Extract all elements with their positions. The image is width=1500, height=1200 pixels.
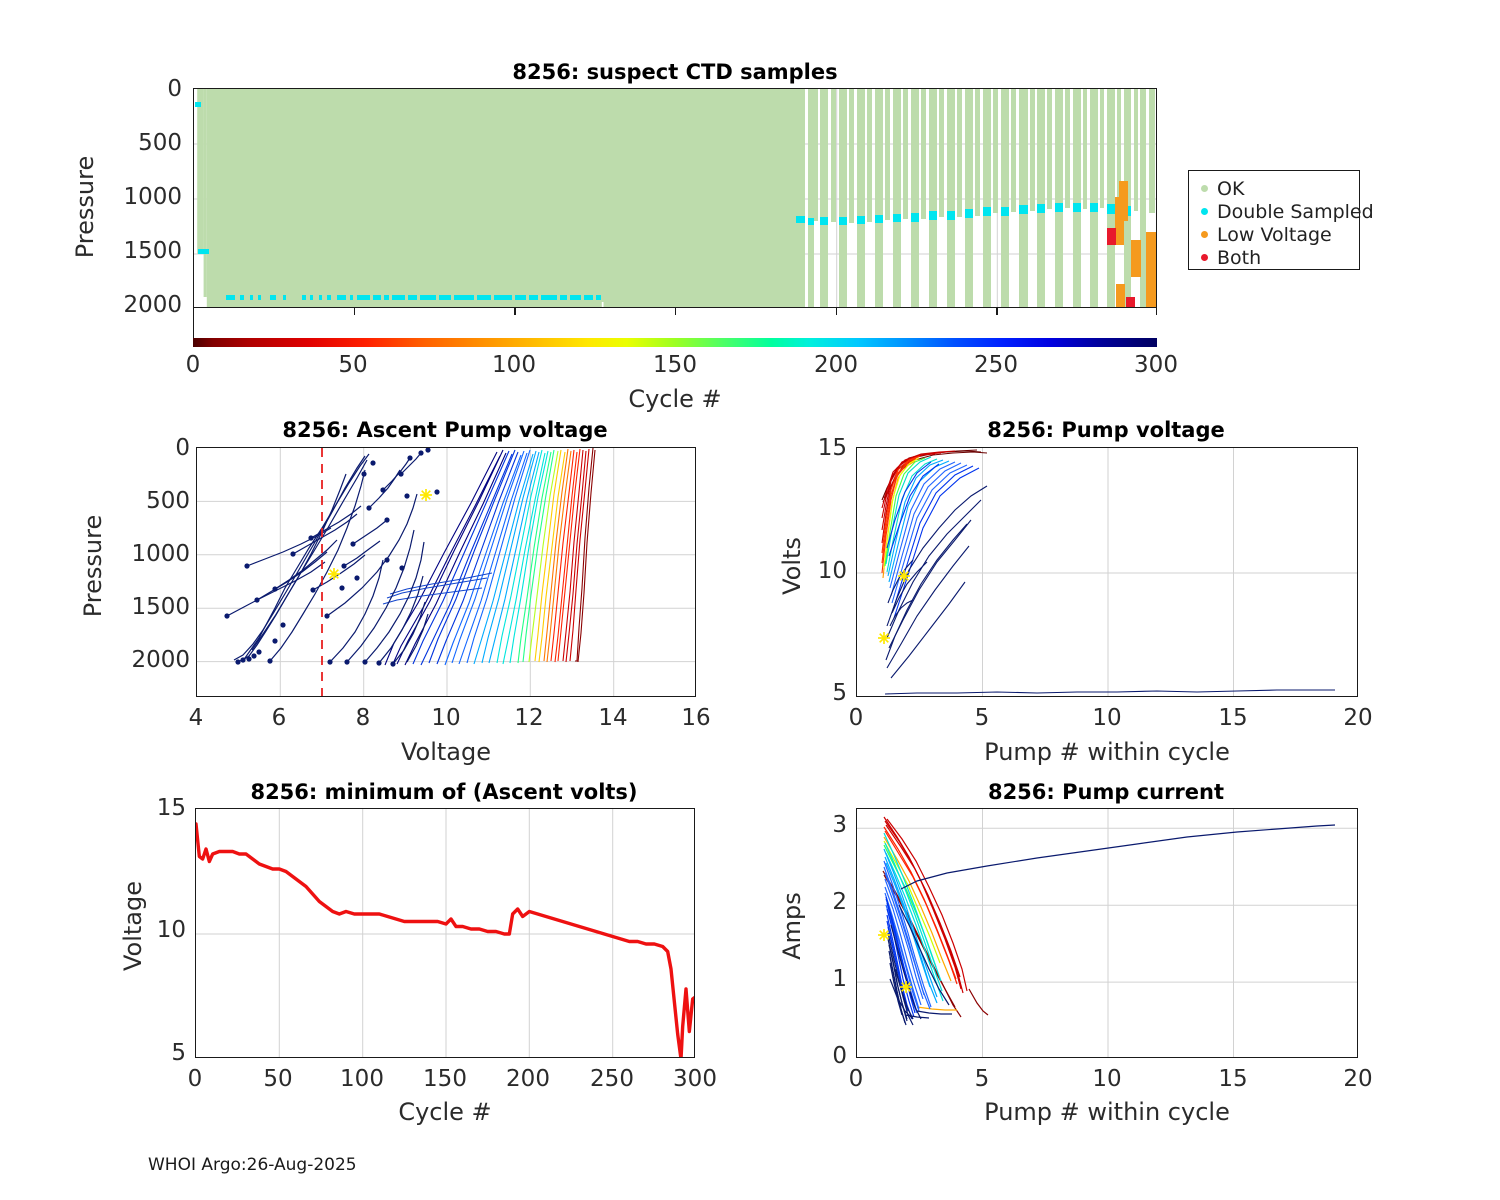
xaxis-label-pump-number: Pump # within cycle bbox=[957, 1098, 1257, 1126]
xtick-mark bbox=[675, 308, 676, 315]
footer-credit: WHOI Argo:26-Aug-2025 bbox=[148, 1155, 357, 1175]
xtick-mark bbox=[1156, 308, 1157, 315]
xtick-label-0: 0 bbox=[826, 1066, 886, 1092]
ytick-1000: 1000 bbox=[108, 541, 190, 567]
legend-item-double-sampled[interactable]: Double Sampled bbox=[1197, 200, 1349, 223]
plot-area-ascent-pump-voltage bbox=[196, 447, 696, 697]
xtick-label-100: 100 bbox=[484, 352, 544, 378]
cycle-colorbar bbox=[193, 338, 1157, 347]
minimum-ascent-volts-svg bbox=[196, 809, 695, 1058]
ytick-2000: 2000 bbox=[108, 647, 190, 673]
ytick-5: 5 bbox=[785, 680, 847, 706]
xtick-label-250: 250 bbox=[966, 352, 1026, 378]
xtick-mark bbox=[514, 308, 515, 315]
pump-voltage-svg bbox=[857, 448, 1358, 697]
legend-label-both: Both bbox=[1217, 247, 1261, 269]
ytick-3: 3 bbox=[795, 812, 847, 838]
xaxis-label-pump-number: Pump # within cycle bbox=[957, 738, 1257, 766]
plot-area-minimum-ascent-volts bbox=[195, 808, 695, 1058]
xtick-label-250: 250 bbox=[582, 1066, 642, 1092]
xtick-mark bbox=[996, 308, 997, 315]
plot-area-pump-voltage bbox=[856, 447, 1358, 697]
xtick-mark bbox=[354, 308, 355, 315]
xtick-label-150: 150 bbox=[645, 352, 705, 378]
panel-title-pump-voltage: 8256: Pump voltage bbox=[855, 418, 1357, 442]
yaxis-label-volts: Volts bbox=[778, 486, 806, 646]
legend-swatch-low-voltage bbox=[1201, 231, 1208, 238]
pump-current-svg bbox=[857, 809, 1358, 1058]
yaxis-label-pressure: Pressure bbox=[71, 117, 99, 297]
ytick-1000: 1000 bbox=[100, 184, 182, 210]
xtick-label-14: 14 bbox=[583, 705, 643, 731]
panel-title-ascent-pump-voltage: 8256: Ascent Pump voltage bbox=[195, 418, 695, 442]
xtick-label-10: 10 bbox=[1077, 1066, 1137, 1092]
ok-region bbox=[197, 89, 1155, 308]
xtick-label-10: 10 bbox=[416, 705, 476, 731]
legend-item-both[interactable]: Both bbox=[1197, 246, 1349, 269]
legend-label-ok: OK bbox=[1217, 178, 1244, 200]
legend-swatch-both bbox=[1201, 254, 1208, 261]
plot-area-pump-current bbox=[856, 808, 1358, 1058]
legend[interactable]: OK Double Sampled Low Voltage Both bbox=[1188, 170, 1360, 270]
ytick-500: 500 bbox=[118, 488, 190, 514]
xaxis-label-cycle: Cycle # bbox=[335, 1098, 555, 1126]
xtick-label-20: 20 bbox=[1328, 705, 1388, 731]
xtick-label-0: 0 bbox=[163, 352, 223, 378]
ytick-2000: 2000 bbox=[100, 292, 182, 318]
gridlines bbox=[196, 809, 695, 1058]
yaxis-label-pressure: Pressure bbox=[79, 476, 107, 656]
ascent-pump-voltage-svg bbox=[197, 448, 696, 697]
legend-label-double-sampled: Double Sampled bbox=[1217, 201, 1374, 223]
ytick-15: 15 bbox=[124, 795, 186, 821]
legend-item-low-voltage[interactable]: Low Voltage bbox=[1197, 223, 1349, 246]
xtick-label-50: 50 bbox=[323, 352, 383, 378]
suspect-ctd-svg bbox=[194, 89, 1157, 308]
legend-swatch-ok bbox=[1201, 185, 1208, 192]
xtick-label-0: 0 bbox=[826, 705, 886, 731]
panel-title-suspect-ctd: 8256: suspect CTD samples bbox=[193, 60, 1157, 84]
xtick-label-15: 15 bbox=[1203, 1066, 1263, 1092]
xtick-label-20: 20 bbox=[1328, 1066, 1388, 1092]
ytick-5: 5 bbox=[124, 1040, 186, 1066]
xtick-label-50: 50 bbox=[248, 1066, 308, 1092]
gridlines bbox=[857, 448, 1358, 697]
ytick-500: 500 bbox=[110, 130, 182, 156]
legend-item-ok[interactable]: OK bbox=[1197, 177, 1349, 200]
xaxis-label-voltage: Voltage bbox=[336, 738, 556, 766]
ytick-0: 0 bbox=[110, 76, 182, 102]
ascent-profile-bundle bbox=[383, 448, 595, 666]
legend-label-low-voltage: Low Voltage bbox=[1217, 224, 1332, 246]
xtick-label-200: 200 bbox=[806, 352, 866, 378]
xtick-label-100: 100 bbox=[332, 1066, 392, 1092]
xtick-label-150: 150 bbox=[415, 1066, 475, 1092]
pump-current-traces bbox=[883, 817, 1335, 1025]
ytick-0: 0 bbox=[118, 435, 190, 461]
yaxis-label-amps: Amps bbox=[778, 846, 806, 1006]
xtick-label-10: 10 bbox=[1077, 705, 1137, 731]
xtick-label-300: 300 bbox=[665, 1066, 725, 1092]
xaxis-label-cycle: Cycle # bbox=[565, 385, 785, 413]
xtick-label-5: 5 bbox=[952, 705, 1012, 731]
xtick-mark bbox=[836, 308, 837, 315]
plot-area-suspect-ctd bbox=[193, 88, 1157, 308]
xtick-label-300: 300 bbox=[1126, 352, 1186, 378]
legend-swatch-double-sampled bbox=[1201, 208, 1208, 215]
xtick-label-15: 15 bbox=[1203, 705, 1263, 731]
ytick-15: 15 bbox=[785, 435, 847, 461]
ytick-1500: 1500 bbox=[108, 594, 190, 620]
xtick-label-8: 8 bbox=[333, 705, 393, 731]
xtick-label-4: 4 bbox=[166, 705, 226, 731]
xtick-label-12: 12 bbox=[499, 705, 559, 731]
xtick-label-200: 200 bbox=[498, 1066, 558, 1092]
xtick-label-6: 6 bbox=[249, 705, 309, 731]
low-voltage-profiles bbox=[227, 453, 428, 664]
panel-title-pump-current: 8256: Pump current bbox=[855, 780, 1357, 804]
ytick-1500: 1500 bbox=[100, 238, 182, 264]
yaxis-label-voltage: Voltage bbox=[119, 836, 147, 1016]
xtick-label-5: 5 bbox=[952, 1066, 1012, 1092]
panel-title-minimum-ascent-volts: 8256: minimum of (Ascent volts) bbox=[193, 780, 695, 804]
xtick-label-16: 16 bbox=[666, 705, 726, 731]
xtick-label-0: 0 bbox=[165, 1066, 225, 1092]
